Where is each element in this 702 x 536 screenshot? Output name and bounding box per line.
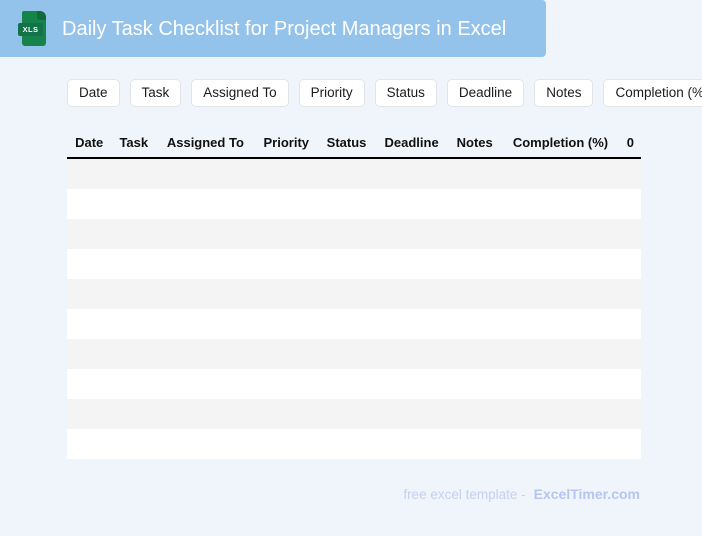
table-header-row: Date Task Assigned To Priority Status De… — [67, 133, 641, 158]
table-cell[interactable] — [375, 279, 448, 309]
table-cell[interactable] — [111, 158, 156, 189]
table-cell[interactable] — [375, 219, 448, 249]
table-row[interactable] — [67, 429, 641, 459]
table-cell[interactable] — [156, 189, 254, 219]
footer-lead-text: free excel template - — [403, 487, 525, 502]
col-header-notes[interactable]: Notes — [448, 133, 501, 158]
table-cell[interactable] — [375, 399, 448, 429]
chip-priority[interactable]: Priority — [299, 79, 365, 107]
table-row[interactable] — [67, 219, 641, 249]
chip-assigned-to[interactable]: Assigned To — [191, 79, 288, 107]
table-cell[interactable] — [318, 339, 375, 369]
xls-icon-badge: XLS — [18, 23, 43, 36]
table-row[interactable] — [67, 189, 641, 219]
table-cell[interactable] — [255, 309, 318, 339]
table-cell[interactable] — [67, 399, 111, 429]
table-cell[interactable] — [501, 158, 619, 189]
table-cell[interactable] — [318, 369, 375, 399]
table-cell[interactable] — [318, 429, 375, 459]
footer-credit: free excel template - ExcelTimer.com — [403, 486, 640, 502]
table-cell[interactable] — [375, 158, 448, 189]
checklist-table-wrapper: Date Task Assigned To Priority Status De… — [67, 133, 641, 459]
col-header-priority[interactable]: Priority — [255, 133, 318, 158]
table-cell[interactable] — [620, 429, 641, 459]
chip-task[interactable]: Task — [130, 79, 182, 107]
table-cell[interactable] — [67, 219, 111, 249]
table-cell[interactable] — [111, 189, 156, 219]
table-cell[interactable] — [156, 309, 254, 339]
table-cell[interactable] — [67, 249, 111, 279]
table-cell[interactable] — [448, 369, 501, 399]
table-cell[interactable] — [501, 429, 619, 459]
table-cell[interactable] — [111, 429, 156, 459]
col-header-assigned-to[interactable]: Assigned To — [156, 133, 254, 158]
table-row[interactable] — [67, 339, 641, 369]
table-cell[interactable] — [501, 369, 619, 399]
table-cell[interactable] — [318, 158, 375, 189]
table-cell[interactable] — [255, 158, 318, 189]
table-row[interactable] — [67, 279, 641, 309]
table-body — [67, 158, 641, 459]
header-banner: XLS Daily Task Checklist for Project Man… — [0, 0, 546, 57]
table-cell[interactable] — [620, 219, 641, 249]
table-cell[interactable] — [67, 189, 111, 219]
table-cell[interactable] — [67, 158, 111, 189]
table-cell[interactable] — [111, 219, 156, 249]
table-cell[interactable] — [156, 279, 254, 309]
table-cell[interactable] — [501, 219, 619, 249]
table-cell[interactable] — [375, 429, 448, 459]
table-cell[interactable] — [318, 219, 375, 249]
table-row[interactable] — [67, 399, 641, 429]
table-cell[interactable] — [448, 399, 501, 429]
table-cell[interactable] — [448, 279, 501, 309]
page-title: Daily Task Checklist for Project Manager… — [62, 17, 506, 41]
table-cell[interactable] — [448, 339, 501, 369]
checklist-table: Date Task Assigned To Priority Status De… — [67, 133, 641, 459]
table-cell[interactable] — [255, 339, 318, 369]
table-cell[interactable] — [67, 369, 111, 399]
table-cell[interactable] — [448, 429, 501, 459]
table-cell[interactable] — [255, 429, 318, 459]
chip-date[interactable]: Date — [67, 79, 120, 107]
table-cell[interactable] — [448, 189, 501, 219]
table-cell[interactable] — [111, 309, 156, 339]
table-cell[interactable] — [318, 249, 375, 279]
chip-completion[interactable]: Completion (%) — [603, 79, 702, 107]
table-cell[interactable] — [156, 429, 254, 459]
table-cell[interactable] — [375, 309, 448, 339]
table-cell[interactable] — [255, 279, 318, 309]
table-row[interactable] — [67, 249, 641, 279]
table-cell[interactable] — [501, 279, 619, 309]
table-cell[interactable] — [255, 369, 318, 399]
table-cell[interactable] — [375, 249, 448, 279]
table-cell[interactable] — [111, 249, 156, 279]
table-cell[interactable] — [620, 158, 641, 189]
table-cell[interactable] — [501, 189, 619, 219]
table-cell[interactable] — [501, 309, 619, 339]
chip-status[interactable]: Status — [375, 79, 437, 107]
table-cell[interactable] — [111, 279, 156, 309]
xls-file-icon: XLS — [18, 10, 48, 48]
col-header-task[interactable]: Task — [111, 133, 156, 158]
table-row[interactable] — [67, 369, 641, 399]
xls-icon-fold — [37, 11, 46, 20]
table-cell[interactable] — [501, 339, 619, 369]
chip-deadline[interactable]: Deadline — [447, 79, 524, 107]
table-cell[interactable] — [156, 369, 254, 399]
table-cell[interactable] — [620, 309, 641, 339]
table-cell[interactable] — [111, 369, 156, 399]
col-header-extra[interactable]: 0 — [620, 133, 641, 158]
table-cell[interactable] — [255, 219, 318, 249]
table-cell[interactable] — [156, 219, 254, 249]
table-cell[interactable] — [501, 249, 619, 279]
table-cell[interactable] — [318, 399, 375, 429]
table-row[interactable] — [67, 309, 641, 339]
table-cell[interactable] — [448, 219, 501, 249]
table-cell[interactable] — [318, 279, 375, 309]
table-cell[interactable] — [620, 339, 641, 369]
table-cell[interactable] — [448, 158, 501, 189]
table-cell[interactable] — [67, 339, 111, 369]
table-cell[interactable] — [448, 309, 501, 339]
table-cell[interactable] — [156, 158, 254, 189]
table-cell[interactable] — [375, 189, 448, 219]
col-header-deadline[interactable]: Deadline — [375, 133, 448, 158]
table-cell[interactable] — [255, 189, 318, 219]
table-head: Date Task Assigned To Priority Status De… — [67, 133, 641, 158]
col-header-date[interactable]: Date — [67, 133, 111, 158]
table-row[interactable] — [67, 158, 641, 189]
table-cell[interactable] — [620, 189, 641, 219]
chip-notes[interactable]: Notes — [534, 79, 593, 107]
table-cell[interactable] — [375, 339, 448, 369]
table-cell[interactable] — [111, 399, 156, 429]
table-cell[interactable] — [318, 309, 375, 339]
table-cell[interactable] — [67, 429, 111, 459]
column-chip-row: Date Task Assigned To Priority Status De… — [67, 79, 702, 107]
col-header-status[interactable]: Status — [318, 133, 375, 158]
table-cell[interactable] — [156, 399, 254, 429]
table-cell[interactable] — [111, 339, 156, 369]
table-cell[interactable] — [156, 339, 254, 369]
footer-brand-link[interactable]: ExcelTimer.com — [534, 486, 640, 502]
table-cell[interactable] — [620, 279, 641, 309]
table-cell[interactable] — [448, 249, 501, 279]
table-cell[interactable] — [318, 189, 375, 219]
table-cell[interactable] — [620, 399, 641, 429]
table-cell[interactable] — [375, 369, 448, 399]
table-cell[interactable] — [501, 399, 619, 429]
table-cell[interactable] — [255, 249, 318, 279]
col-header-completion[interactable]: Completion (%) — [501, 133, 619, 158]
table-cell[interactable] — [620, 249, 641, 279]
table-cell[interactable] — [255, 399, 318, 429]
table-cell[interactable] — [156, 249, 254, 279]
table-cell[interactable] — [67, 309, 111, 339]
table-cell[interactable] — [67, 279, 111, 309]
table-cell[interactable] — [620, 369, 641, 399]
